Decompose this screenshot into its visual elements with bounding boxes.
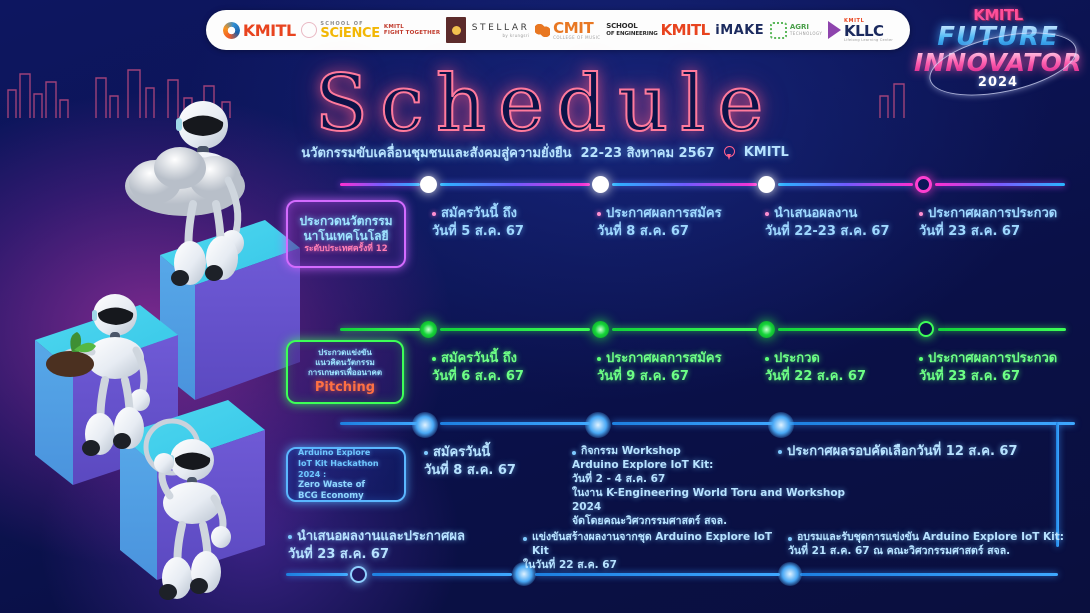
event-arduino-r1-2-l4: ในงาน K-Engineering World Toru and Works… — [572, 486, 872, 514]
event-pitch-2-title: ประกาศผลการสมัคร — [606, 350, 722, 368]
badge-pitch-line2: แนวคิดนวัตกรรม — [315, 358, 375, 368]
event-arduino-r2-1: นำเสนอผลงานและประกาศผล วันที่ 23 ส.ค. 67 — [288, 528, 518, 564]
event-arduino-r2-2-title: แข่งขันสร้างผลงานจากชุด Arduino Explore … — [532, 530, 788, 558]
track-nano-dot-4 — [915, 176, 932, 193]
stellar-logo: STELLAR by krungsri — [472, 23, 530, 38]
cmit-logo: CMIT COLLEGE OF MUSIC — [535, 21, 600, 40]
robot-illustration — [0, 100, 300, 613]
track-arduino-rail-1 — [340, 422, 420, 425]
track-pitch-dot-2 — [592, 321, 609, 338]
event-nano-1: สมัครวันนี้ ถึง วันที่ 5 ส.ค. 67 — [432, 205, 582, 241]
event-nano-4-date: วันที่ 23 ส.ค. 67 — [919, 223, 1089, 241]
poster-canvas: KMITL SCHOOL OF SCiENCE KMITL FIGHT TOGE… — [0, 0, 1090, 613]
event-arduino-r2-2-date: ในวันที่ 22 ส.ค. 67 — [523, 558, 788, 572]
event-arduino-r1-2-l3: วันที่ 2 - 4 ส.ค. 67 — [572, 472, 872, 486]
kllc-logo-text: KLLC — [844, 24, 893, 38]
event-pitch-4: ประกาศผลการประกวด วันที่ 23 ส.ค. 67 — [919, 350, 1089, 386]
track-pitch-rail-5 — [938, 328, 1066, 331]
fi-future-text: FUTURE — [914, 24, 1082, 50]
event-arduino-r2-2: แข่งขันสร้างผลงานจากชุด Arduino Explore … — [523, 530, 788, 572]
stellar-logo-sub: by krungsri — [502, 33, 529, 38]
cmit-logo-sub: COLLEGE OF MUSIC — [553, 35, 600, 40]
agri-logo-text: AGRI — [790, 24, 823, 31]
event-arduino-r2-3-date: วันที่ 21 ส.ค. 67 ณ คณะวิศวกรรมศาสตร์ สจ… — [788, 544, 1083, 558]
track-nano-rail-1 — [340, 183, 420, 186]
kmitl-logo-text: KMITL — [243, 21, 296, 40]
track-arduino-dot-3 — [768, 412, 794, 438]
badge-pitch-line3: การเกษตรเพื่ออนาคต — [308, 368, 382, 378]
event-pitch-3-title: ประกวด — [774, 350, 820, 368]
agri-logo-sub: TECHNOLOGY — [790, 31, 823, 36]
subtitle-location: KMITL — [744, 145, 789, 160]
track-pitch-rail-2 — [440, 328, 590, 331]
track-nano-rail-5 — [935, 183, 1065, 186]
event-nano-2-date: วันที่ 8 ส.ค. 67 — [597, 223, 762, 241]
bullet-icon — [919, 357, 923, 361]
science-logo-line2: SCiENCE — [320, 27, 379, 40]
badge-pitch-highlight: Pitching — [315, 380, 375, 396]
subtitle-thai: นวัตกรรมขับเคลื่อนชุมชนและสังคมสู่ความยั… — [301, 142, 571, 163]
event-arduino-r1-3: ประกาศผลรอบคัดเลือกวันที่ 12 ส.ค. 67 — [778, 443, 1053, 461]
engineering-logo-line2: OF ENGINEERING — [606, 31, 657, 37]
kllc-logo: KMITL KLLC Lifelong Learning Center — [828, 19, 893, 42]
badge-arduino-line2: IoT Kit Hackathon 2024 : — [298, 458, 398, 480]
track-arduino-rail-b1 — [286, 573, 348, 576]
event-arduino-r2-3: อบรมและรับชุดการแข่งขัน Arduino Explore … — [788, 530, 1083, 558]
badge-arduino-line3: Zero Waste of — [298, 480, 365, 492]
track-nano-rail-2 — [440, 183, 590, 186]
track-nano-dot-3 — [758, 176, 775, 193]
badge-nano-innovation[interactable]: ประกวดนวัตกรรม นาโนเทคโนโลยี ระดับประเทศ… — [286, 200, 406, 268]
khlungel-logo — [446, 17, 466, 43]
cmit-logo-text: CMIT — [553, 21, 600, 35]
badge-nano-line3: ระดับประเทศครั้งที่ 12 — [304, 244, 387, 255]
robot-with-cloud — [125, 101, 245, 286]
event-pitch-3-date: วันที่ 22 ส.ค. 67 — [765, 368, 915, 386]
event-nano-4-title: ประกาศผลการประกวด — [928, 205, 1057, 223]
track-pitch-dot-1 — [420, 321, 437, 338]
track-arduino-rail-b3 — [535, 573, 780, 576]
imake-logo-text: iMAKE — [715, 23, 764, 38]
subtitle-dates: 22-23 สิงหาคม 2567 — [581, 142, 715, 163]
bullet-icon — [765, 212, 769, 216]
event-arduino-r1-2-title: กิจกรรม Workshop — [581, 444, 681, 458]
event-pitch-4-title: ประกาศผลการประกวด — [928, 350, 1057, 368]
track-arduino-rail-3 — [612, 422, 782, 425]
school-of-engineering-kmitl-logo: SCHOOL OF ENGINEERING KMITL — [606, 21, 709, 39]
track-arduino-rail-2 — [440, 422, 590, 425]
track-nano-rail-3 — [612, 183, 757, 186]
track-nano-rail-4 — [778, 183, 913, 186]
badge-arduino-line1: Arduino Explore — [298, 447, 370, 458]
bullet-icon — [432, 357, 436, 361]
science-logo-tag2: FIGHT TOGETHER — [384, 30, 440, 36]
sponsor-logo-bar: KMITL SCHOOL OF SCiENCE KMITL FIGHT TOGE… — [206, 10, 910, 50]
cmit-mark-icon — [535, 24, 550, 37]
bullet-icon — [788, 537, 792, 541]
event-nano-3-title: นำเสนอผลงาน — [774, 205, 857, 223]
event-pitch-4-date: วันที่ 23 ส.ค. 67 — [919, 368, 1089, 386]
event-arduino-r1-1: สมัครวันนี้ วันที่ 8 ส.ค. 67 — [424, 444, 574, 480]
track-pitch-rail-1 — [340, 328, 420, 331]
event-pitch-1-date: วันที่ 6 ส.ค. 67 — [432, 368, 582, 386]
bullet-icon — [572, 451, 576, 455]
track-pitch-rail-3 — [612, 328, 757, 331]
bullet-icon — [765, 357, 769, 361]
bullet-icon — [778, 450, 782, 454]
bullet-icon — [523, 537, 527, 541]
track-arduino-rail-4 — [785, 422, 1075, 425]
iso-cubes-and-robots — [0, 100, 300, 613]
event-nano-2-title: ประกาศผลการสมัคร — [606, 205, 722, 223]
kllc-triangle-icon — [828, 21, 841, 39]
event-pitch-1-title: สมัครวันนี้ ถึง — [441, 350, 517, 368]
stellar-logo-text: STELLAR — [472, 23, 530, 33]
imake-logo: iMAKE — [715, 23, 764, 38]
event-pitch-2-date: วันที่ 9 ส.ค. 67 — [597, 368, 762, 386]
bullet-icon — [288, 535, 292, 539]
track-pitch-dot-3 — [758, 321, 775, 338]
track-arduino-rail-b2 — [372, 573, 512, 576]
event-nano-1-date: วันที่ 5 ส.ค. 67 — [432, 223, 582, 241]
event-nano-2: ประกาศผลการสมัคร วันที่ 8 ส.ค. 67 — [597, 205, 762, 241]
badge-nano-line1: ประกวดนวัตกรรม — [299, 214, 392, 229]
track-pitch-rail-4 — [778, 328, 918, 331]
badge-arduino-line4: BCG Economy — [298, 491, 364, 503]
event-pitch-1: สมัครวันนี้ ถึง วันที่ 6 ส.ค. 67 — [432, 350, 582, 386]
track-arduino-rail-right — [1056, 422, 1059, 547]
event-pitch-3: ประกวด วันที่ 22 ส.ค. 67 — [765, 350, 915, 386]
track-arduino-dot-1 — [412, 412, 438, 438]
engineering-logo-kmitl: KMITL — [661, 21, 710, 39]
event-arduino-r1-2-l5: จัดโดยคณะวิศวกรรมศาสตร์ สจล. — [572, 514, 872, 528]
badge-pitching[interactable]: ประกวดแข่งขัน แนวคิดนวัตกรรม การเกษตรเพื… — [286, 340, 404, 404]
kllc-logo-sub: Lifelong Learning Center — [844, 38, 893, 42]
event-nano-3-date: วันที่ 22-23 ส.ค. 67 — [765, 223, 915, 241]
event-nano-1-title: สมัครวันนี้ ถึง — [441, 205, 517, 223]
bullet-icon — [597, 357, 601, 361]
badge-pitch-line1: ประกวดแข่งขัน — [318, 348, 372, 358]
bullet-icon — [424, 451, 428, 455]
kmitl-swirl-icon — [223, 22, 240, 39]
map-pin-icon — [724, 146, 735, 160]
bullet-icon — [432, 212, 436, 216]
event-arduino-r1-3-title: ประกาศผลรอบคัดเลือกวันที่ 12 ส.ค. 67 — [787, 443, 1018, 461]
track-nano-dot-1 — [420, 176, 437, 193]
track-arduino-dot-2 — [585, 412, 611, 438]
badge-arduino[interactable]: Arduino Explore IoT Kit Hackathon 2024 :… — [286, 447, 406, 502]
engineering-logo-line1: SCHOOL — [606, 23, 657, 31]
track-arduino-rail-b4 — [800, 573, 1058, 576]
track-pitch-dot-4 — [918, 321, 934, 337]
bullet-icon — [919, 212, 923, 216]
agri-technology-logo: AGRI TECHNOLOGY — [770, 22, 823, 39]
event-arduino-r1-1-date: วันที่ 8 ส.ค. 67 — [424, 462, 574, 480]
event-arduino-r1-1-title: สมัครวันนี้ — [433, 444, 490, 462]
event-nano-3: นำเสนอผลงาน วันที่ 22-23 ส.ค. 67 — [765, 205, 915, 241]
agri-molecule-icon — [770, 22, 787, 39]
badge-nano-line2: นาโนเทคโนโลยี — [303, 229, 388, 244]
science-seal-icon — [301, 22, 317, 38]
event-arduino-r2-1-title: นำเสนอผลงานและประกาศผล — [297, 528, 465, 546]
bullet-icon — [597, 212, 601, 216]
khlungel-emblem-icon — [446, 17, 466, 43]
kmitl-logo: KMITL — [223, 21, 296, 40]
track-arduino-dot-b1 — [350, 566, 367, 583]
event-nano-4: ประกาศผลการประกวด วันที่ 23 ส.ค. 67 — [919, 205, 1089, 241]
school-of-science-logo: SCHOOL OF SCiENCE KMITL FIGHT TOGETHER — [301, 21, 440, 40]
event-arduino-r2-3-title: อบรมและรับชุดการแข่งขัน Arduino Explore … — [797, 530, 1064, 544]
event-arduino-r2-1-date: วันที่ 23 ส.ค. 67 — [288, 546, 518, 564]
event-pitch-2: ประกาศผลการสมัคร วันที่ 9 ส.ค. 67 — [597, 350, 762, 386]
track-nano-dot-2 — [592, 176, 609, 193]
